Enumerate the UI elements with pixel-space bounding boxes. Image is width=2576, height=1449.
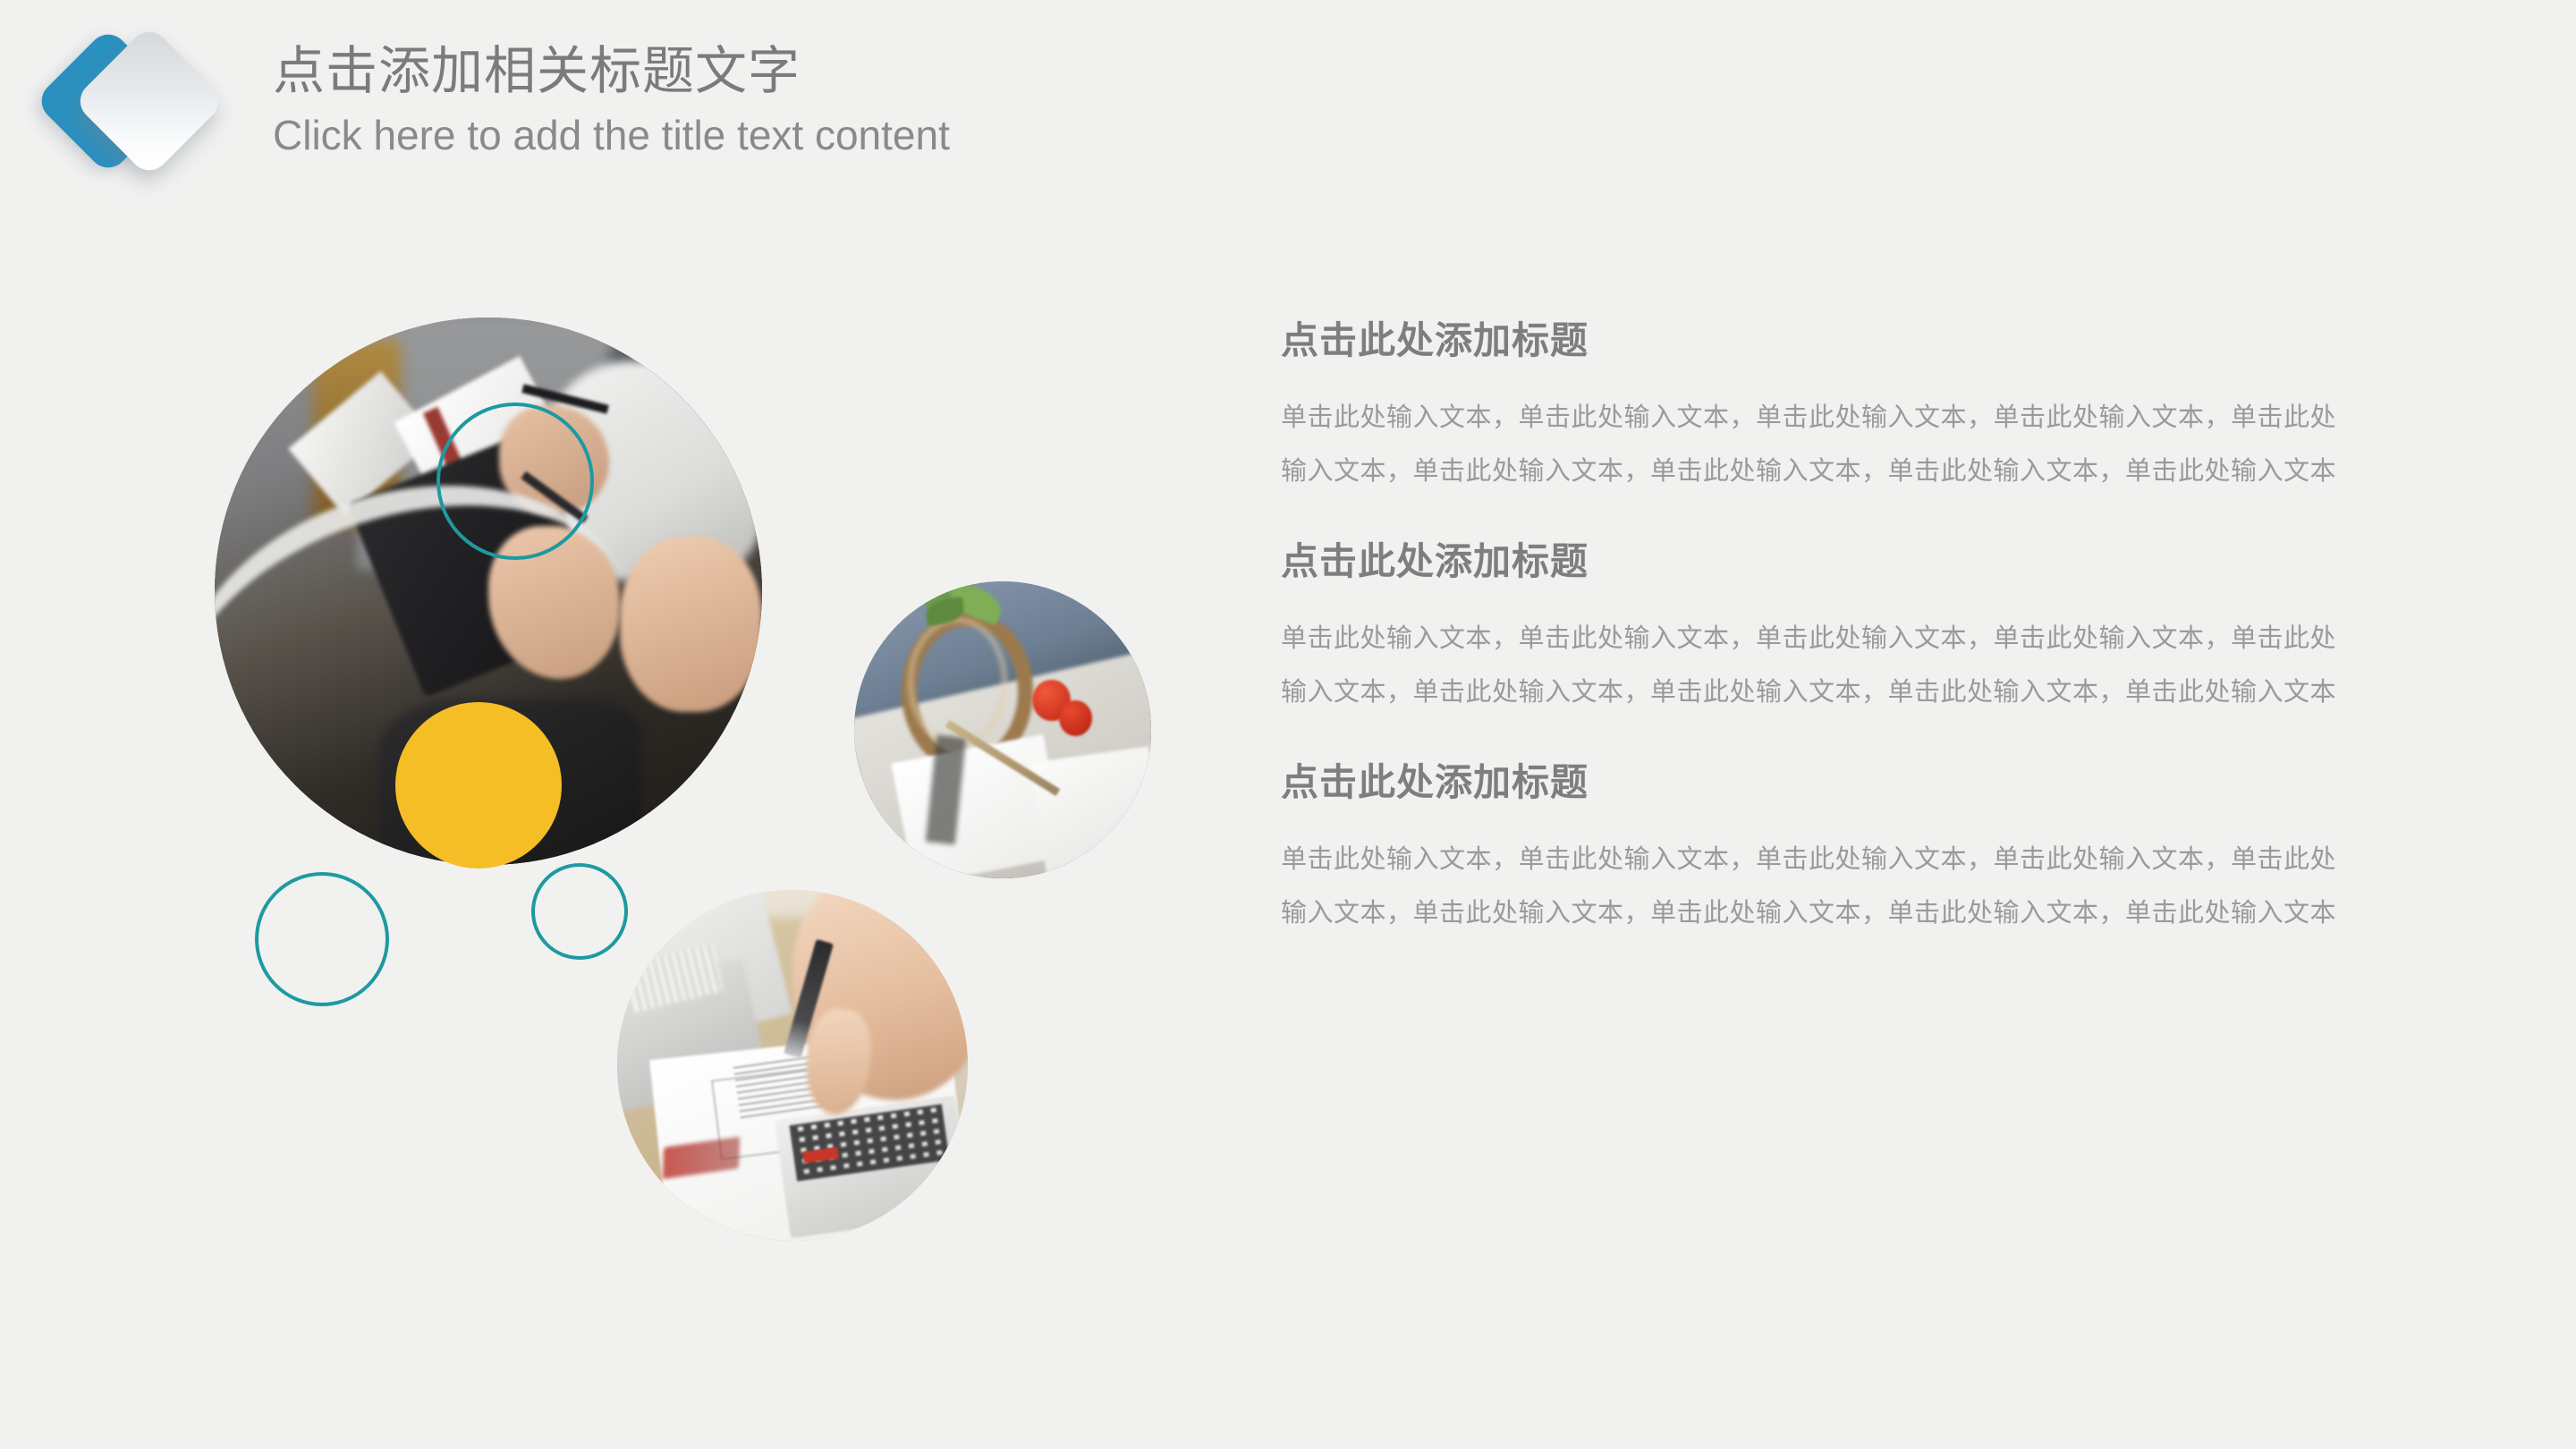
content-block-body: 单击此处输入文本，单击此处输入文本，单击此处输入文本，单击此处输入文本，单击此处… bbox=[1281, 392, 2336, 498]
page-subtitle: Click here to add the title text content bbox=[273, 113, 950, 158]
layered-diamond-logo bbox=[36, 23, 224, 193]
table-strawberry-two bbox=[1059, 700, 1092, 736]
image-circle-cluster bbox=[197, 295, 1181, 1297]
photo-circle-table-setting bbox=[854, 581, 1151, 878]
content-column: 点击此处添加标题 单击此处输入文本，单击此处输入文本，单击此处输入文本，单击此处… bbox=[1281, 320, 2390, 940]
slide-header: 点击添加相关标题文字 Click here to add the title t… bbox=[0, 0, 2576, 224]
content-block: 点击此处添加标题 单击此处输入文本，单击此处输入文本，单击此处输入文本，单击此处… bbox=[1281, 320, 2390, 498]
yellow-accent-circle bbox=[395, 702, 562, 869]
presentation-slide: 点击添加相关标题文字 Click here to add the title t… bbox=[0, 0, 2576, 1449]
content-block-heading: 点击此处添加标题 bbox=[1281, 320, 2390, 361]
photo-calculator-illustration bbox=[617, 890, 968, 1241]
header-text-group: 点击添加相关标题文字 Click here to add the title t… bbox=[273, 43, 950, 157]
content-block-heading: 点击此处添加标题 bbox=[1281, 762, 2390, 803]
photo-circle-calculator bbox=[617, 890, 968, 1241]
content-block: 点击此处添加标题 单击此处输入文本，单击此处输入文本，单击此处输入文本，单击此处… bbox=[1281, 541, 2390, 719]
content-block-body: 单击此处输入文本，单击此处输入文本，单击此处输入文本，单击此处输入文本，单击此处… bbox=[1281, 613, 2336, 719]
table-napkin-right bbox=[1030, 746, 1151, 878]
teal-ring-left bbox=[255, 872, 389, 1006]
photo-table-illustration bbox=[854, 581, 1151, 878]
content-block-heading: 点击此处添加标题 bbox=[1281, 541, 2390, 582]
page-title: 点击添加相关标题文字 bbox=[273, 43, 950, 100]
teal-ring-top bbox=[436, 402, 594, 560]
content-block: 点击此处添加标题 单击此处输入文本，单击此处输入文本，单击此处输入文本，单击此处… bbox=[1281, 762, 2390, 940]
teal-ring-small bbox=[531, 863, 628, 960]
meeting-hand-right bbox=[620, 537, 762, 712]
content-block-body: 单击此处输入文本，单击此处输入文本，单击此处输入文本，单击此处输入文本，单击此处… bbox=[1281, 834, 2336, 940]
